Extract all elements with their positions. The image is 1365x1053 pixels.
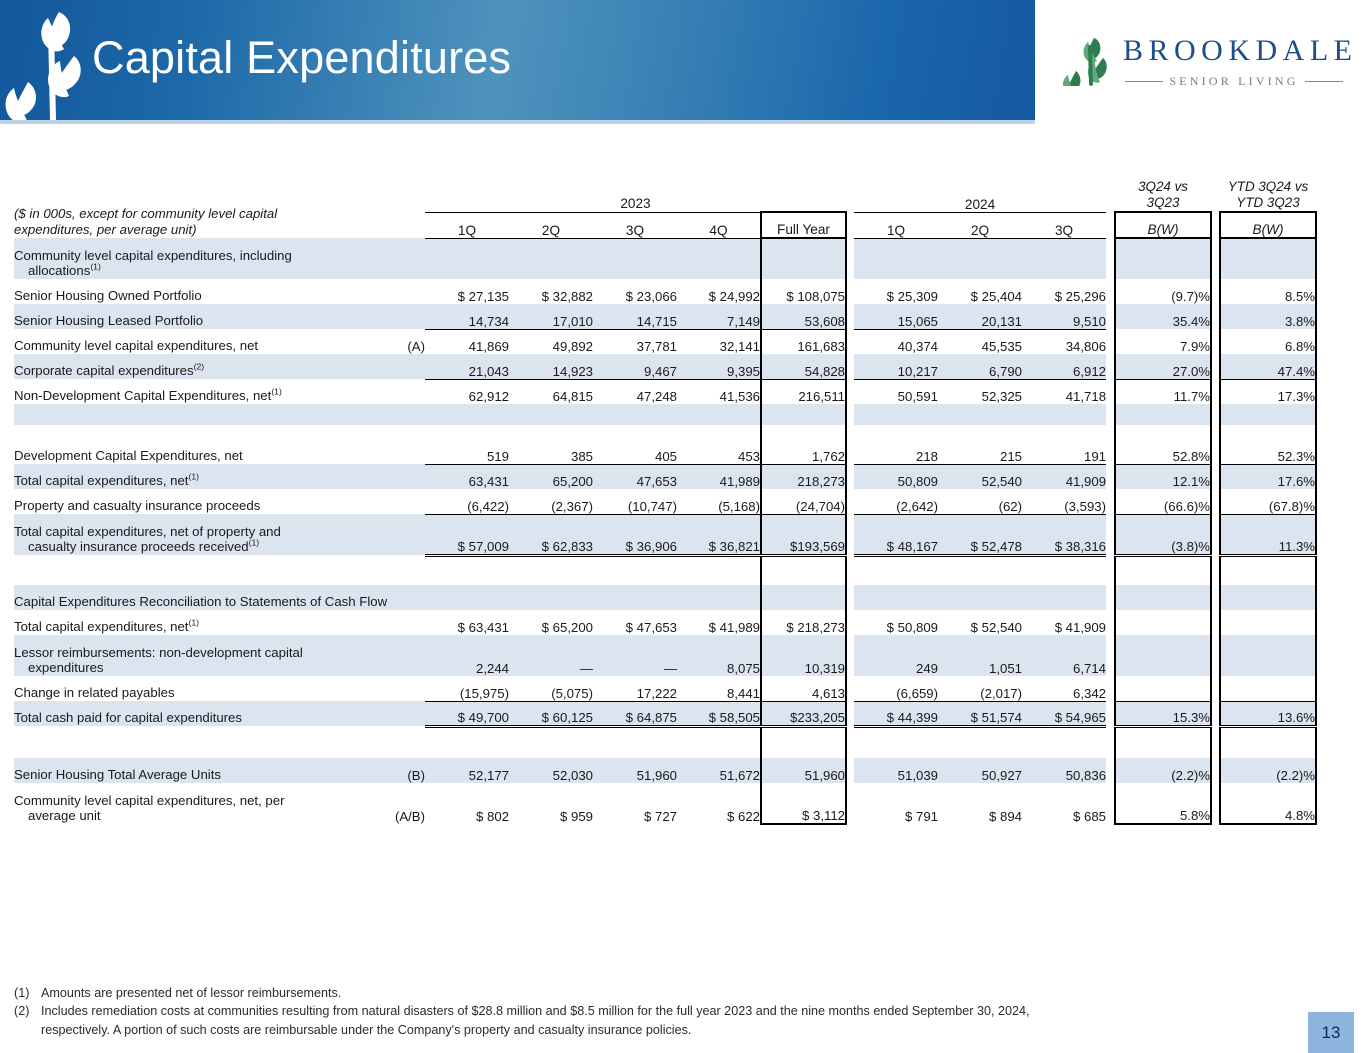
gap-cell — [1106, 329, 1115, 354]
capital-expenditures-table: ($ in 000s, except for community level c… — [14, 178, 1317, 825]
cell: 41,909 — [1022, 464, 1106, 489]
cell: (2,642) — [854, 489, 938, 514]
cell: 45,535 — [938, 329, 1022, 354]
spacer — [677, 726, 761, 758]
cell: 51,039 — [854, 758, 938, 783]
cell: 6.8% — [1220, 329, 1316, 354]
cell: $ 63,431 — [425, 610, 509, 635]
gap-cell — [1106, 354, 1115, 379]
spacer — [1220, 425, 1316, 439]
spacer — [509, 425, 593, 439]
row-label: Total capital expenditures, net(1) — [14, 464, 389, 489]
gap-cell — [846, 212, 854, 238]
cell: (2,017) — [938, 676, 1022, 701]
gap-cell — [1211, 635, 1220, 676]
gap-cell — [846, 304, 854, 329]
spacer — [677, 555, 761, 585]
cell: 15.3% — [1115, 701, 1211, 726]
cell: 405 — [593, 439, 677, 464]
gap-cell — [1106, 439, 1115, 464]
col-header-2023-3q: 3Q — [593, 212, 677, 238]
gap-cell — [1106, 379, 1115, 404]
cell: $ 218,273 — [761, 610, 846, 635]
gap-cell — [1211, 489, 1220, 514]
cell: 41,869 — [425, 329, 509, 354]
spacer-row — [14, 425, 1316, 439]
spacer — [1115, 404, 1211, 425]
row-ref: (A) — [389, 329, 425, 354]
cell: (5,075) — [509, 676, 593, 701]
table-row: Change in related payables (15,975) (5,0… — [14, 676, 1316, 701]
cell: $ 24,992 — [677, 279, 761, 304]
cell — [1022, 585, 1106, 610]
gap-cell — [1106, 610, 1115, 635]
col-header-2023-4q: 4Q — [677, 212, 761, 238]
cell: $ 959 — [509, 783, 593, 824]
row-ref — [389, 354, 425, 379]
gap-cell — [1211, 676, 1220, 701]
cell: $ 622 — [677, 783, 761, 824]
row-label: Lessor reimbursements: non-development c… — [14, 635, 389, 676]
row-ref — [389, 676, 425, 701]
cell: 385 — [509, 439, 593, 464]
gap-cell — [846, 783, 854, 824]
spacer — [1022, 404, 1106, 425]
col-header-2024-3q: 3Q — [1022, 212, 1106, 238]
cell: $ 52,540 — [938, 610, 1022, 635]
cell: 41,989 — [677, 464, 761, 489]
row-label: Corporate capital expenditures(2) — [14, 354, 389, 379]
cell: $ 727 — [593, 783, 677, 824]
cell: 5.8% — [1115, 783, 1211, 824]
cell: 6,912 — [1022, 354, 1106, 379]
gap-cell — [1106, 758, 1115, 783]
spacer — [1106, 726, 1115, 758]
cell: $ 38,316 — [1022, 514, 1106, 555]
cell: 51,672 — [677, 758, 761, 783]
cell — [761, 238, 846, 279]
spacer — [1220, 726, 1316, 758]
cell: (15,975) — [425, 676, 509, 701]
footnote-2-text: Includes remediation costs at communitie… — [41, 1002, 1304, 1020]
gap-cell — [846, 701, 854, 726]
spacer — [677, 425, 761, 439]
gap-cell — [1106, 464, 1115, 489]
gap-cell — [1106, 585, 1115, 610]
spacer — [1106, 555, 1115, 585]
cell — [593, 238, 677, 279]
gap-cell — [1211, 354, 1220, 379]
table-row: Senior Housing Leased Portfolio 14,734 1… — [14, 304, 1316, 329]
gap-cell — [1106, 279, 1115, 304]
row-ref — [389, 489, 425, 514]
comparison-header-2: YTD 3Q24 vs YTD 3Q23 — [1220, 178, 1316, 212]
row-label: Total capital expenditures, net(1) — [14, 610, 389, 635]
cell — [1115, 676, 1211, 701]
table-row: Total capital expenditures, net(1) 63,43… — [14, 464, 1316, 489]
ref-col-spacer — [389, 178, 425, 238]
col-header-2023-full-year: Full Year — [761, 212, 846, 238]
group-header-2024: 2024 — [854, 178, 1106, 212]
cell — [425, 585, 509, 610]
cell — [509, 585, 593, 610]
cell: 17,222 — [593, 676, 677, 701]
cell: $ 52,478 — [938, 514, 1022, 555]
cell: 17.6% — [1220, 464, 1316, 489]
cell: $ 51,574 — [938, 701, 1022, 726]
spacer — [938, 425, 1022, 439]
cell: $ 41,909 — [1022, 610, 1106, 635]
gap-cell — [846, 489, 854, 514]
table-row: Development Capital Expenditures, net 51… — [14, 439, 1316, 464]
cell: 9,510 — [1022, 304, 1106, 329]
cell — [854, 585, 938, 610]
cell: 52.3% — [1220, 439, 1316, 464]
brand-rule-right — [1305, 81, 1343, 82]
spacer — [1211, 555, 1220, 585]
spacer — [14, 425, 389, 439]
gap-cell — [1211, 701, 1220, 726]
cell: $233,205 — [761, 701, 846, 726]
cell: 63,431 — [425, 464, 509, 489]
cell: $ 23,066 — [593, 279, 677, 304]
cell: (10,747) — [593, 489, 677, 514]
cell — [593, 585, 677, 610]
brand-wordmark: BROOKDALE — [1123, 34, 1358, 68]
spacer — [389, 555, 425, 585]
group-gap — [846, 178, 854, 212]
comparison-header-1: 3Q24 vs 3Q23 — [1115, 178, 1211, 212]
gap-cell-3 — [1211, 212, 1220, 238]
footnotes: (1) Amounts are presented net of lessor … — [14, 984, 1304, 1039]
row-label: Total cash paid for capital expenditures — [14, 701, 389, 726]
spacer — [1106, 404, 1115, 425]
cell: 9,395 — [677, 354, 761, 379]
cell: 64,815 — [509, 379, 593, 404]
gap-cell — [1211, 329, 1220, 354]
gap-cell — [846, 585, 854, 610]
title-banner: Capital Expenditures — [0, 0, 1035, 120]
cell: 52,030 — [509, 758, 593, 783]
cell: $ 685 — [1022, 783, 1106, 824]
table-row: Community level capital expenditures, ne… — [14, 783, 1316, 824]
cell: 35.4% — [1115, 304, 1211, 329]
cell — [509, 238, 593, 279]
spacer — [593, 555, 677, 585]
cell: 10,319 — [761, 635, 846, 676]
cell: 51,960 — [593, 758, 677, 783]
spacer — [14, 404, 389, 425]
gap-cell — [1211, 610, 1220, 635]
spacer — [593, 425, 677, 439]
cell: — — [593, 635, 677, 676]
table-row: Senior Housing Owned Portfolio $ 27,135 … — [14, 279, 1316, 304]
group-header-2023: 2023 — [425, 178, 846, 212]
cell — [1022, 238, 1106, 279]
cell: 21,043 — [425, 354, 509, 379]
spacer — [389, 425, 425, 439]
page-title: Capital Expenditures — [92, 32, 511, 84]
col-header-bw-1: B(W) — [1115, 212, 1211, 238]
col-header-2024-1q: 1Q — [854, 212, 938, 238]
cell: 17.3% — [1220, 379, 1316, 404]
cell: 41,718 — [1022, 379, 1106, 404]
row-ref — [389, 464, 425, 489]
table-row: Total cash paid for capital expenditures… — [14, 701, 1316, 726]
cell — [761, 585, 846, 610]
cell: $ 36,821 — [677, 514, 761, 555]
gap-cell — [846, 354, 854, 379]
cell: $ 60,125 — [509, 701, 593, 726]
row-ref: (B) — [389, 758, 425, 783]
cell: 249 — [854, 635, 938, 676]
cell: 2,244 — [425, 635, 509, 676]
cell — [938, 585, 1022, 610]
cell: $ 48,167 — [854, 514, 938, 555]
cell: $ 791 — [854, 783, 938, 824]
cell: 216,511 — [761, 379, 846, 404]
cell: 6,342 — [1022, 676, 1106, 701]
cell — [677, 238, 761, 279]
gap-cell — [1106, 304, 1115, 329]
cell — [1115, 585, 1211, 610]
spacer — [14, 726, 389, 758]
cell — [938, 238, 1022, 279]
cell: 11.3% — [1220, 514, 1316, 555]
spacer — [425, 404, 509, 425]
cell — [1220, 635, 1316, 676]
cell: (6,659) — [854, 676, 938, 701]
page-number-badge: 13 — [1308, 1012, 1354, 1053]
row-ref — [389, 379, 425, 404]
cell: $ 44,399 — [854, 701, 938, 726]
cell: 161,683 — [761, 329, 846, 354]
spacer — [1220, 555, 1316, 585]
cell: 41,536 — [677, 379, 761, 404]
cell: 9,467 — [593, 354, 677, 379]
cell: 52,325 — [938, 379, 1022, 404]
cell: 50,836 — [1022, 758, 1106, 783]
col-header-2023-2q: 2Q — [509, 212, 593, 238]
cell: (62) — [938, 489, 1022, 514]
table-row: Total capital expenditures, net of prope… — [14, 514, 1316, 555]
cell: 7.9% — [1115, 329, 1211, 354]
cell: 14,715 — [593, 304, 677, 329]
spacer — [1115, 726, 1211, 758]
table-row: Senior Housing Total Average Units (B) 5… — [14, 758, 1316, 783]
cell: $ 54,965 — [1022, 701, 1106, 726]
gap-cell — [846, 379, 854, 404]
gap-cell — [846, 439, 854, 464]
spacer — [425, 425, 509, 439]
row-ref — [389, 238, 425, 279]
spacer — [854, 404, 938, 425]
row-label: Development Capital Expenditures, net — [14, 439, 389, 464]
row-ref — [389, 439, 425, 464]
row-label: Senior Housing Owned Portfolio — [14, 279, 389, 304]
cell: 7,149 — [677, 304, 761, 329]
row-label: Non-Development Capital Expenditures, ne… — [14, 379, 389, 404]
brookdale-leaf-icon — [1063, 34, 1115, 86]
cell: $ 49,700 — [425, 701, 509, 726]
table-group-header-row: ($ in 000s, except for community level c… — [14, 178, 1316, 212]
cell: $ 25,296 — [1022, 279, 1106, 304]
cell: 62,912 — [425, 379, 509, 404]
gap-cell — [1211, 304, 1220, 329]
spacer — [1022, 425, 1106, 439]
cell — [677, 585, 761, 610]
row-label: Community level capital expenditures, in… — [14, 238, 389, 279]
cell: 218 — [854, 439, 938, 464]
gap-cell — [846, 758, 854, 783]
cell: $193,569 — [761, 514, 846, 555]
spacer — [938, 404, 1022, 425]
spacer — [14, 555, 389, 585]
cell: $ 65,200 — [509, 610, 593, 635]
spacer — [389, 726, 425, 758]
gap-cell — [1106, 701, 1115, 726]
cell: 47,248 — [593, 379, 677, 404]
cell — [1115, 610, 1211, 635]
cell: 1,762 — [761, 439, 846, 464]
cmp-gap-2 — [1211, 178, 1220, 212]
cell: (6,422) — [425, 489, 509, 514]
cell: (66.6)% — [1115, 489, 1211, 514]
row-ref: (A/B) — [389, 783, 425, 824]
spacer — [425, 555, 509, 585]
spacer-row — [14, 555, 1316, 585]
gap-cell — [846, 514, 854, 555]
cell: 52.8% — [1115, 439, 1211, 464]
spacer — [1106, 425, 1115, 439]
gap-cell — [1211, 379, 1220, 404]
col-header-bw-2: B(W) — [1220, 212, 1316, 238]
cell: (3.8)% — [1115, 514, 1211, 555]
row-label: Property and casualty insurance proceeds — [14, 489, 389, 514]
spacer — [938, 726, 1022, 758]
spacer — [389, 404, 425, 425]
gap-cell — [1211, 464, 1220, 489]
gap-cell — [1211, 514, 1220, 555]
cell: 37,781 — [593, 329, 677, 354]
spacer — [846, 425, 854, 439]
units-note: ($ in 000s, except for community level c… — [14, 178, 389, 238]
row-label: Senior Housing Leased Portfolio — [14, 304, 389, 329]
spacer — [1022, 555, 1106, 585]
spacer — [854, 726, 938, 758]
cell: 14,923 — [509, 354, 593, 379]
cell: 52,177 — [425, 758, 509, 783]
spacer — [854, 425, 938, 439]
cell: 519 — [425, 439, 509, 464]
cell: 8.5% — [1220, 279, 1316, 304]
table-row: Community level capital expenditures, in… — [14, 238, 1316, 279]
gap-cell — [1211, 238, 1220, 279]
cell: 13.6% — [1220, 701, 1316, 726]
spacer — [1211, 404, 1220, 425]
spacer — [509, 726, 593, 758]
spacer — [509, 555, 593, 585]
cell: 218,273 — [761, 464, 846, 489]
cell: 47,653 — [593, 464, 677, 489]
gap-cell — [846, 635, 854, 676]
cell: 32,141 — [677, 329, 761, 354]
row-label: Community level capital expenditures, ne… — [14, 783, 389, 824]
cell: (2,367) — [509, 489, 593, 514]
footnote-1-text: Amounts are presented net of lessor reim… — [41, 984, 1304, 1002]
cell: 54,828 — [761, 354, 846, 379]
row-ref — [389, 635, 425, 676]
cell — [854, 238, 938, 279]
spacer — [425, 726, 509, 758]
brand-tagline: SENIOR LIVING — [1169, 74, 1298, 89]
cell — [1220, 585, 1316, 610]
cell: $ 894 — [938, 783, 1022, 824]
cell — [1220, 610, 1316, 635]
cell: $ 32,882 — [509, 279, 593, 304]
spacer — [1115, 425, 1211, 439]
cell: (2.2)% — [1220, 758, 1316, 783]
gap-cell — [1106, 783, 1115, 824]
table-row: Lessor reimbursements: non-development c… — [14, 635, 1316, 676]
cell — [1220, 676, 1316, 701]
table-section-heading-row: Capital Expenditures Reconciliation to S… — [14, 585, 1316, 610]
cell: $ 25,404 — [938, 279, 1022, 304]
cell: 50,591 — [854, 379, 938, 404]
row-ref — [389, 701, 425, 726]
spacer — [761, 555, 846, 585]
spacer — [938, 555, 1022, 585]
table-row: Non-Development Capital Expenditures, ne… — [14, 379, 1316, 404]
cell: 15,065 — [854, 304, 938, 329]
cell: $ 47,653 — [593, 610, 677, 635]
cell: 6,714 — [1022, 635, 1106, 676]
spacer — [1115, 555, 1211, 585]
cell: 34,806 — [1022, 329, 1106, 354]
spacer — [761, 726, 846, 758]
footnote-2-text-continued: respectively. A portion of such costs ar… — [14, 1021, 1304, 1039]
spacer-row — [14, 726, 1316, 758]
spacer — [509, 404, 593, 425]
cell — [1220, 238, 1316, 279]
spacer — [1211, 425, 1220, 439]
cell: 191 — [1022, 439, 1106, 464]
cmp-gap-1 — [1106, 178, 1115, 212]
brand-rule-left — [1125, 81, 1163, 82]
brand-tagline-wrap: SENIOR LIVING — [1125, 74, 1343, 89]
gap-cell — [1211, 783, 1220, 824]
spacer — [677, 404, 761, 425]
table-row: Property and casualty insurance proceeds… — [14, 489, 1316, 514]
cell: 47.4% — [1220, 354, 1316, 379]
cell: 8,075 — [677, 635, 761, 676]
spacer — [1022, 726, 1106, 758]
gap-cell — [1211, 279, 1220, 304]
cell: 51,960 — [761, 758, 846, 783]
gap-cell — [1106, 514, 1115, 555]
cell: $ 64,875 — [593, 701, 677, 726]
cell: $ 25,309 — [854, 279, 938, 304]
footnote-1-marker: (1) — [14, 984, 34, 1002]
cell: — — [509, 635, 593, 676]
cell: $ 802 — [425, 783, 509, 824]
gap-cell — [846, 464, 854, 489]
spacer — [1211, 726, 1220, 758]
row-ref — [389, 514, 425, 555]
cell: 14,734 — [425, 304, 509, 329]
gap-cell — [1211, 585, 1220, 610]
gap-cell — [1106, 489, 1115, 514]
